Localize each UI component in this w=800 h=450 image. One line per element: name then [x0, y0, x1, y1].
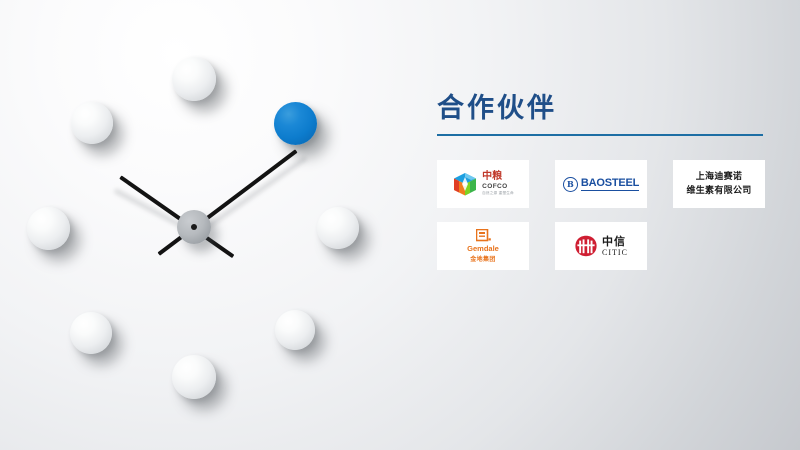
- clock-marker-highlight: [274, 102, 317, 145]
- partner-card-baosteel[interactable]: B BAOSTEEL: [555, 160, 647, 208]
- clock-center-screw: [191, 224, 197, 230]
- title-underline-rule: [437, 134, 763, 136]
- citic-emblem-icon: [574, 235, 598, 257]
- cofco-en-name: COFCO: [482, 184, 514, 191]
- partner-card-desano[interactable]: 上海迪赛诺 维生素有限公司: [673, 160, 765, 208]
- clock-marker-12: [172, 57, 216, 101]
- partner-card-cofco[interactable]: 中粮 COFCO 自然之源 重塑生命: [437, 160, 529, 208]
- citic-cn-name: 中信: [602, 236, 628, 247]
- baosteel-en-name: BAOSTEEL: [581, 177, 639, 191]
- clock-marker-10: [71, 102, 113, 144]
- partner-card-gemdale[interactable]: Gemdale 金地集团: [437, 222, 529, 270]
- desano-name-line2: 维生素有限公司: [686, 184, 751, 198]
- clock-marker-3: [317, 207, 359, 249]
- desano-name-line1: 上海迪赛诺: [686, 170, 751, 184]
- clock-marker-8: [70, 312, 112, 354]
- gemdale-cn-name: 金地集团: [470, 254, 496, 263]
- clock-hand-shadow-minute: [197, 156, 308, 236]
- gemdale-square-icon: [476, 229, 491, 243]
- partner-logo-grid: 中粮 COFCO 自然之源 重塑生命 B BAOSTEEL 上: [437, 160, 777, 270]
- baosteel-mark-letter: B: [567, 180, 574, 188]
- slide-canvas: 合作伙伴: [0, 0, 800, 450]
- clock-marker-9: [27, 207, 70, 250]
- wall-clock-photo: [0, 0, 400, 450]
- page-title: 合作伙伴: [432, 92, 768, 126]
- gemdale-en-name: Gemdale: [467, 244, 499, 253]
- clock-marker-6: [172, 355, 216, 399]
- partner-card-citic[interactable]: 中信 CITIC: [555, 222, 647, 270]
- cofco-cube-icon: [452, 171, 478, 197]
- cofco-cn-name: 中粮: [482, 172, 514, 182]
- cofco-tagline: 自然之源 重塑生命: [482, 192, 514, 196]
- baosteel-emblem-icon: B: [563, 177, 578, 192]
- citic-en-name: CITIC: [602, 249, 628, 257]
- clock-marker-4: [275, 310, 315, 350]
- partners-panel: 合作伙伴: [432, 92, 768, 312]
